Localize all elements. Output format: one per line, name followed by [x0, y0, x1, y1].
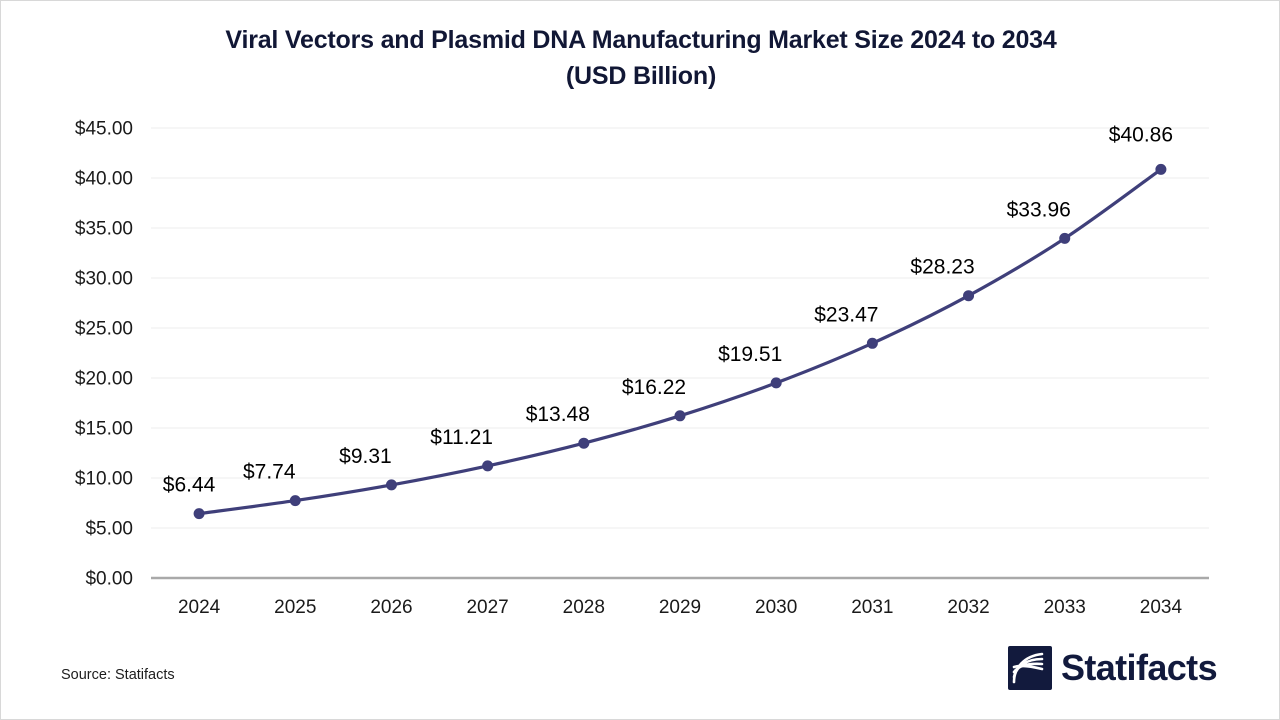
line-chart-svg: $0.00$5.00$10.00$15.00$20.00$25.00$30.00… [1, 1, 1280, 720]
y-axis-tick-label: $25.00 [75, 319, 133, 340]
data-point-marker [1156, 164, 1166, 174]
x-axis-tick-label: 2026 [370, 597, 412, 618]
data-point-label: $23.47 [814, 303, 878, 326]
data-point-label: $9.31 [339, 445, 392, 468]
y-axis-tick-label: $20.00 [75, 369, 133, 390]
plot-area: $0.00$5.00$10.00$15.00$20.00$25.00$30.00… [1, 1, 1280, 720]
x-axis-tick-label: 2027 [466, 597, 508, 618]
data-point-label: $28.23 [910, 256, 974, 279]
source-note: Source: Statifacts [61, 667, 175, 683]
chart-page: Viral Vectors and Plasmid DNA Manufactur… [0, 0, 1280, 720]
statifacts-logo: Statifacts [1008, 646, 1217, 690]
y-axis-tick-label: $10.00 [75, 469, 133, 490]
data-point-marker [579, 438, 589, 448]
data-point-marker [386, 480, 396, 490]
data-point-label: $13.48 [526, 403, 590, 426]
y-axis-tick-label: $5.00 [85, 519, 133, 540]
data-point-marker [1060, 233, 1070, 243]
data-point-label: $7.74 [243, 461, 296, 484]
gridlines-group [151, 128, 1209, 578]
y-axis-tick-label: $15.00 [75, 419, 133, 440]
y-axis-tick-label: $30.00 [75, 269, 133, 290]
x-axis-tick-label: 2031 [851, 597, 893, 618]
data-point-label: $40.86 [1109, 123, 1173, 146]
data-point-label: $11.21 [430, 426, 493, 449]
x-axis-tick-label: 2032 [947, 597, 989, 618]
data-point-label: $33.96 [1007, 198, 1071, 221]
data-point-marker [867, 338, 877, 348]
x-axis-tick-labels: 2024202520262027202820292030203120322033… [178, 597, 1183, 618]
y-axis-tick-label: $0.00 [85, 569, 133, 590]
statifacts-wordmark: Statifacts [1061, 650, 1217, 686]
data-point-marker [194, 509, 204, 519]
data-point-marker [483, 461, 493, 471]
x-axis-tick-label: 2029 [659, 597, 701, 618]
x-axis-tick-label: 2034 [1140, 597, 1183, 618]
data-point-marker [675, 411, 685, 421]
x-axis-tick-label: 2028 [563, 597, 605, 618]
y-axis-tick-labels: $0.00$5.00$10.00$15.00$20.00$25.00$30.00… [75, 119, 133, 590]
data-point-marker [771, 378, 781, 388]
data-point-marker [964, 291, 974, 301]
data-point-marker [290, 496, 300, 506]
y-axis-tick-label: $40.00 [75, 169, 133, 190]
y-axis-tick-label: $35.00 [75, 219, 133, 240]
x-axis-tick-label: 2025 [274, 597, 316, 618]
statifacts-logo-icon [1008, 646, 1052, 690]
data-point-labels-group: $6.44$7.74$9.31$11.21$13.48$16.22$19.51$… [163, 123, 1173, 496]
data-point-label: $19.51 [718, 343, 782, 366]
data-point-label: $16.22 [622, 376, 686, 399]
x-axis-tick-label: 2030 [755, 597, 797, 618]
y-axis-tick-label: $45.00 [75, 119, 133, 140]
x-axis-tick-label: 2033 [1044, 597, 1086, 618]
x-axis-tick-label: 2024 [178, 597, 221, 618]
data-point-label: $6.44 [163, 474, 216, 497]
